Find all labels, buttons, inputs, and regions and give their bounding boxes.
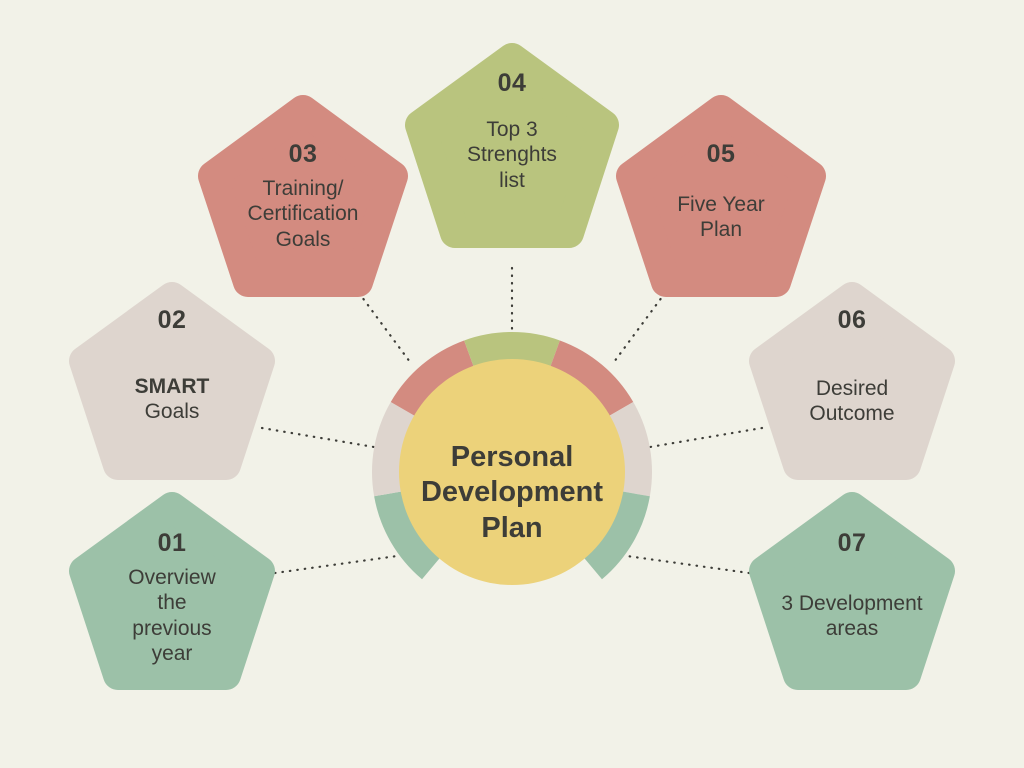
pentagon-03[interactable]	[213, 110, 393, 282]
connector-line-06	[650, 428, 762, 447]
infographic-canvas: 01 Overview the previous year 02 SMART G…	[0, 0, 1024, 768]
pentagon-07[interactable]	[764, 507, 940, 675]
center-circle[interactable]	[399, 359, 625, 585]
pentagon-05[interactable]	[631, 110, 811, 282]
connector-line-05	[614, 293, 665, 362]
diagram-svg	[0, 0, 1024, 768]
connector-line-07	[627, 556, 749, 573]
pentagon-04[interactable]	[420, 58, 604, 233]
pentagon-06[interactable]	[764, 297, 940, 465]
pentagon-02[interactable]	[84, 297, 260, 465]
connector-line-03	[359, 293, 410, 362]
connector-line-02	[262, 428, 374, 447]
pentagon-01[interactable]	[84, 507, 260, 675]
connector-line-01	[275, 556, 397, 573]
